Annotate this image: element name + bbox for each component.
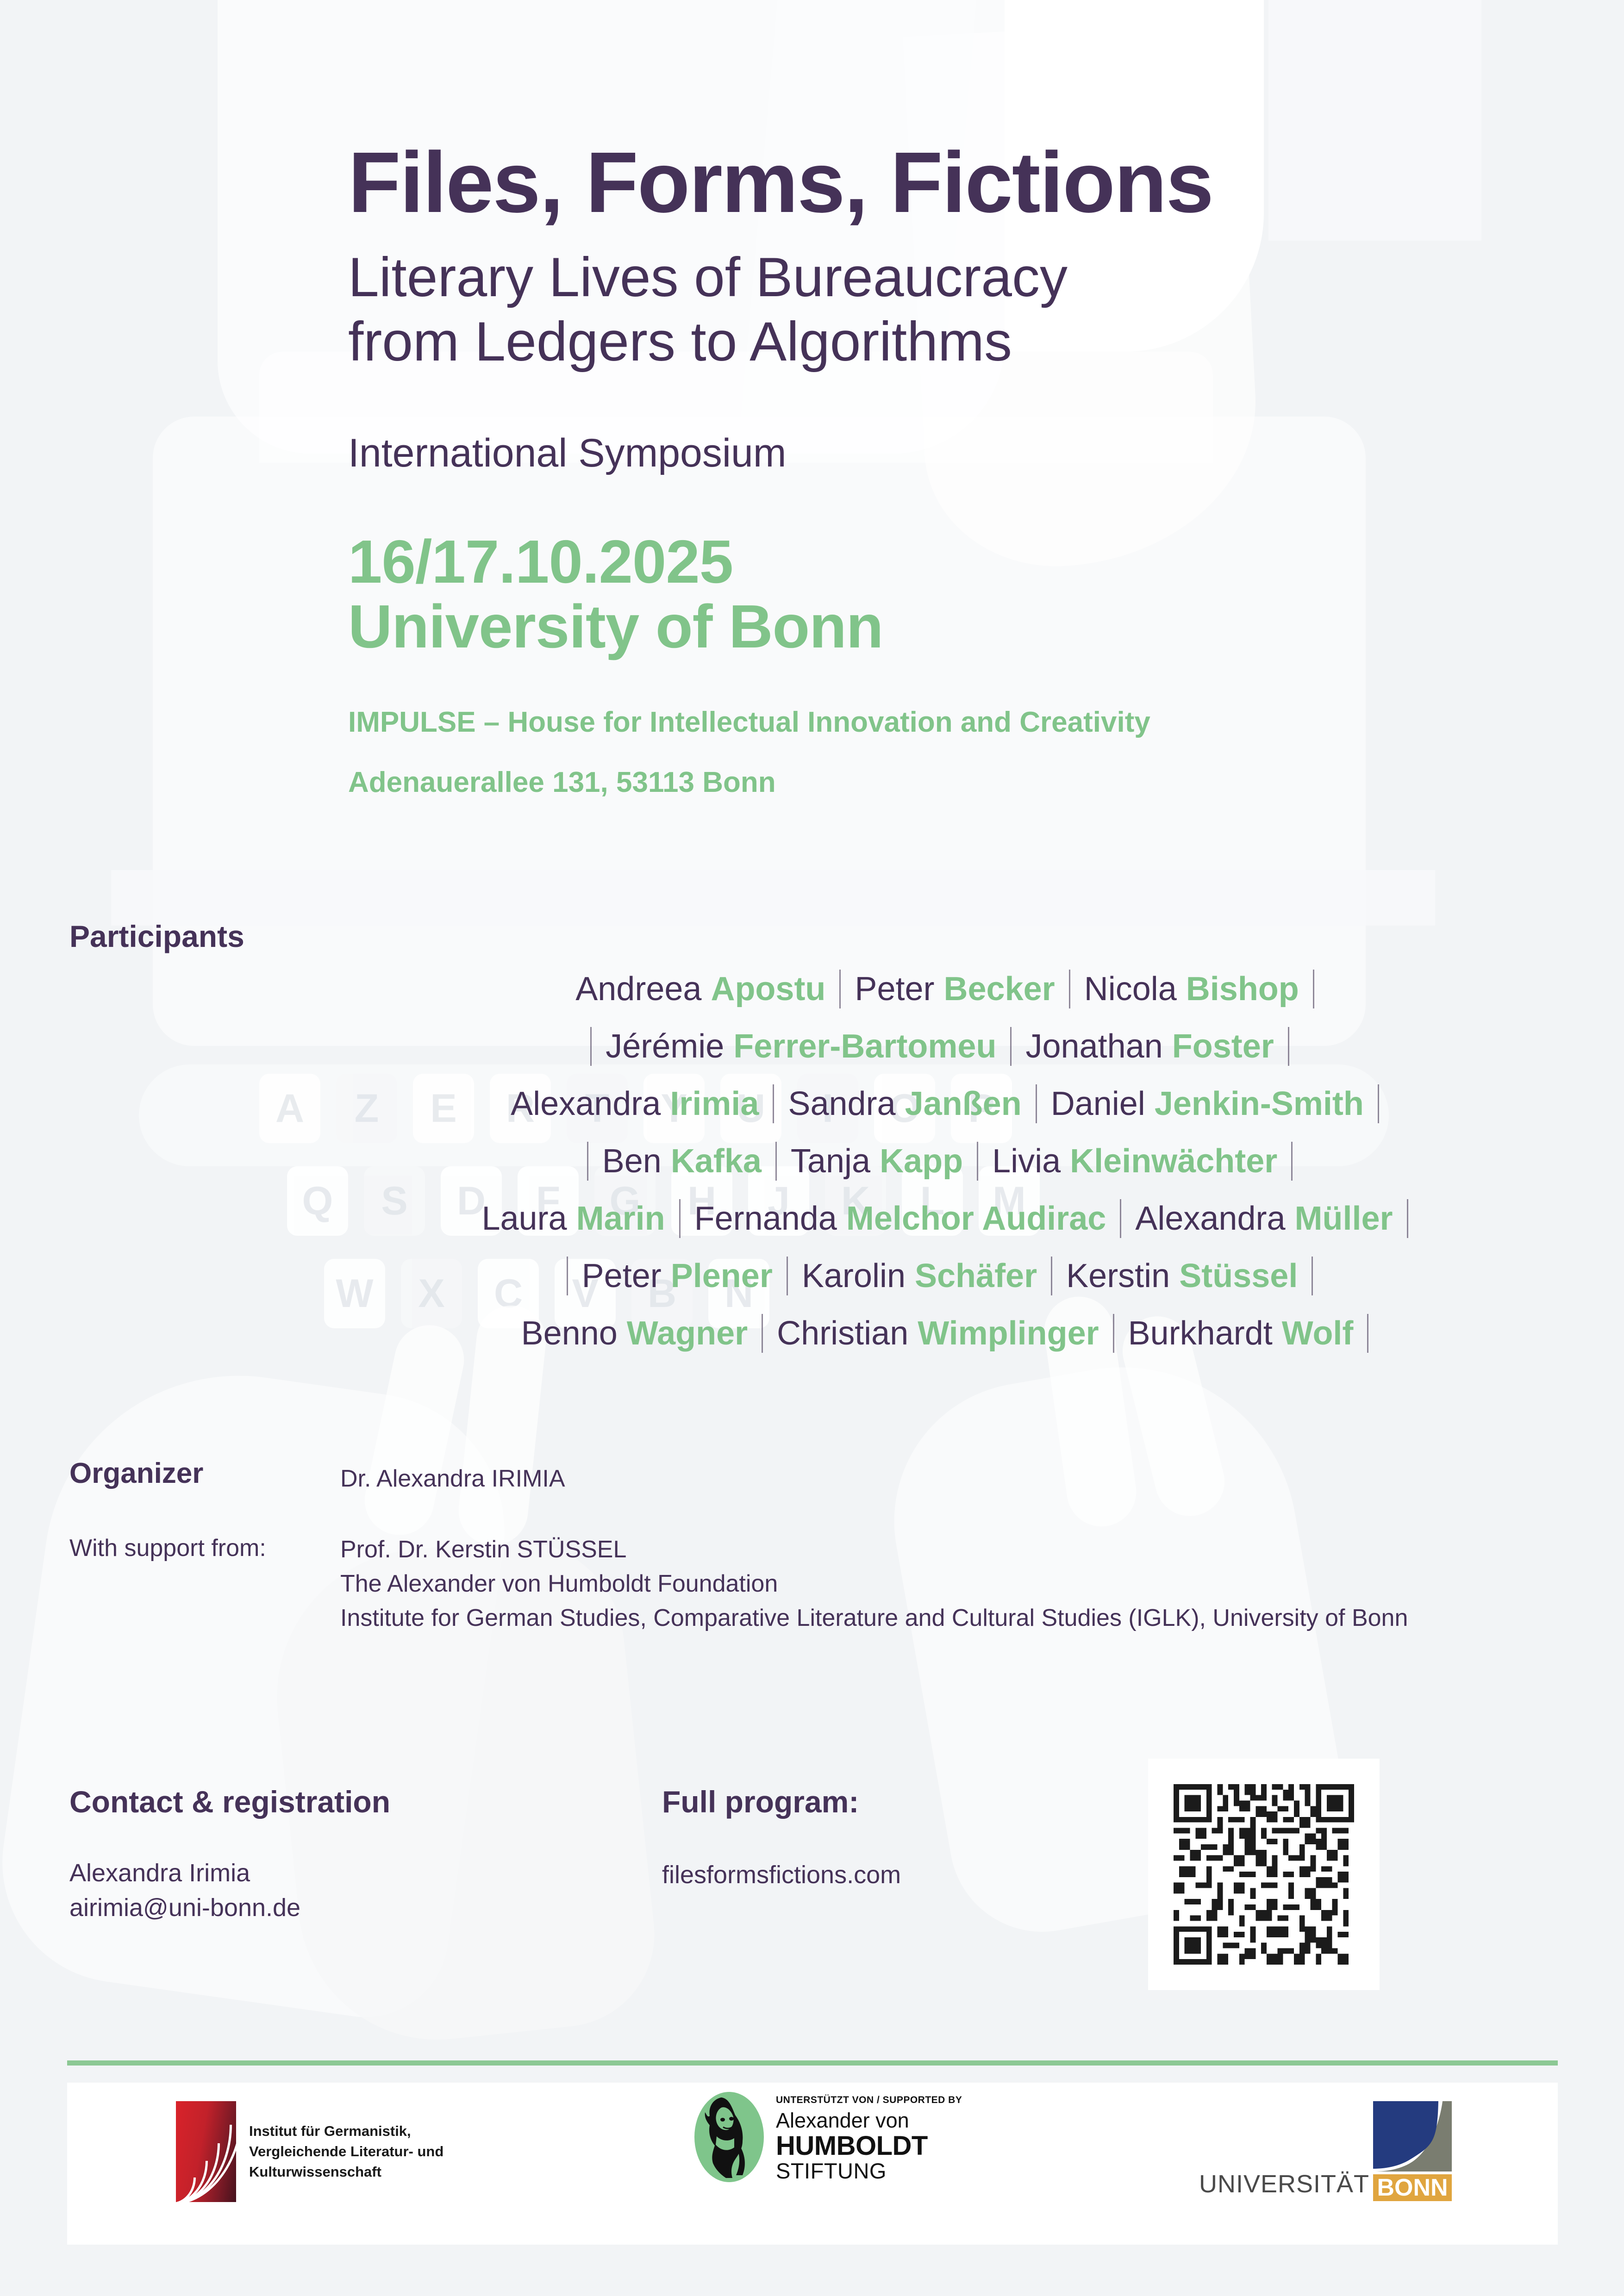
event-kind: International Symposium <box>348 430 786 476</box>
participant-name: Nicola Bishop <box>1072 960 1311 1018</box>
iglk-line-1: Institut für Germanistik, <box>249 2121 443 2141</box>
participant-first-name: Alexandra <box>511 1085 670 1122</box>
contact-details: Alexandra Irimia airimia@uni-bonn.de <box>69 1856 300 1925</box>
participant-name: Laura Marin <box>469 1190 677 1247</box>
participant-first-name: Jonathan <box>1025 1028 1172 1065</box>
participant-name: Alexandra Müller <box>1123 1190 1405 1247</box>
participant-last-name: Ferrer-Bartomeu <box>733 1028 996 1065</box>
participant-first-name: Peter <box>855 971 943 1008</box>
humboldt-line-1: Alexander von <box>776 2109 962 2132</box>
participant-last-name: Wimplinger <box>918 1315 1099 1352</box>
participant-last-name: Kafka <box>671 1143 762 1180</box>
participant-separator <box>679 1199 681 1238</box>
participant-last-name: Foster <box>1172 1028 1274 1065</box>
participant-separator <box>1407 1199 1408 1238</box>
contact-email[interactable]: airimia@uni-bonn.de <box>69 1891 300 1925</box>
participant-last-name: Melchor Audirac <box>846 1200 1106 1237</box>
participant-separator <box>1313 970 1314 1008</box>
participant-first-name: Karolin <box>802 1257 915 1294</box>
participant-name: Peter Plener <box>570 1247 785 1305</box>
event-venue: IMPULSE – House for Intellectual Innovat… <box>348 706 1150 739</box>
participant-last-name: Janßen <box>905 1085 1022 1122</box>
participant-name: Ben Kafka <box>590 1132 774 1190</box>
participant-first-name: Kerstin <box>1066 1257 1179 1294</box>
participant-first-name: Laura <box>481 1200 576 1237</box>
humboldt-line-2: HUMBOLDT <box>776 2132 962 2159</box>
participant-separator <box>977 1142 978 1181</box>
participants-list: Andreea ApostuPeter BeckerNicola BishopJ… <box>315 960 1565 1362</box>
program-heading: Full program: <box>662 1784 859 1819</box>
participant-separator <box>762 1314 763 1353</box>
participant-name: Andreea Apostu <box>563 960 837 1018</box>
bonn-curve-icon <box>1373 2101 1452 2172</box>
participants-label: Participants <box>69 919 244 954</box>
supporters-list: Prof. Dr. Kerstin STÜSSEL The Alexander … <box>340 1533 1408 1635</box>
contact-person: Alexandra Irimia <box>69 1856 300 1891</box>
event-date: 16/17.10.2025 <box>348 528 733 596</box>
poster: AZERTYUIOP QSDFGHJKLM WXCVBN Files, Form… <box>0 0 1624 2296</box>
event-place: University of Bonn <box>348 592 883 661</box>
humboldt-logo-text: UNTERSTÜTZT VON / SUPPORTED BY Alexander… <box>776 2092 962 2183</box>
participant-name: Jérémie Ferrer-Bartomeu <box>593 1018 1008 1075</box>
participants-row: Peter PlenerKarolin SchäferKerstin Stüss… <box>315 1247 1565 1305</box>
participant-name: Alexandra Irimia <box>499 1075 771 1132</box>
participant-last-name: Stüssel <box>1179 1257 1298 1294</box>
participant-separator <box>1120 1199 1121 1238</box>
page-subtitle: Literary Lives of Bureaucracy from Ledge… <box>348 245 1068 374</box>
subtitle-line-2: from Ledgers to Algorithms <box>348 310 1068 374</box>
supporter-item: Prof. Dr. Kerstin STÜSSEL <box>340 1533 1408 1567</box>
participant-last-name: Wagner <box>627 1315 748 1352</box>
footer-divider <box>67 2060 1558 2066</box>
participant-name: Sandra Janßen <box>776 1075 1033 1132</box>
participant-separator <box>590 1027 592 1066</box>
bonn-universitaet-text: UNIVERSITÄT <box>1199 2170 1369 2201</box>
iglk-logo: Institut für Germanistik, Vergleichende … <box>176 2101 443 2202</box>
participant-name: Peter Becker <box>843 960 1067 1018</box>
participant-first-name: Christian <box>777 1315 918 1352</box>
participant-separator <box>787 1257 788 1295</box>
participant-name: Benno Wagner <box>509 1305 760 1362</box>
iglk-logo-text: Institut für Germanistik, Vergleichende … <box>249 2121 443 2182</box>
participant-last-name: Jenkin-Smith <box>1155 1085 1364 1122</box>
bonn-mark: BONN <box>1373 2101 1452 2201</box>
participant-first-name: Nicola <box>1084 971 1186 1008</box>
participant-name: Daniel Jenkin-Smith <box>1039 1075 1376 1132</box>
participant-last-name: Bishop <box>1186 971 1299 1008</box>
participants-row: Laura MarinFernanda Melchor AudiracAlexa… <box>315 1190 1565 1247</box>
humboldt-logo: UNTERSTÜTZT VON / SUPPORTED BY Alexander… <box>694 2092 962 2183</box>
participant-separator <box>1288 1027 1289 1066</box>
bonn-orange-bar: BONN <box>1373 2174 1452 2201</box>
participant-name: Karolin Schäfer <box>790 1247 1049 1305</box>
subtitle-line-1: Literary Lives of Bureaucracy <box>348 245 1068 310</box>
participant-first-name: Sandra <box>788 1085 905 1122</box>
participants-row: Andreea ApostuPeter BeckerNicola Bishop <box>315 960 1565 1018</box>
qr-code-image <box>1174 1784 1354 1965</box>
participant-first-name: Peter <box>582 1257 671 1294</box>
participant-last-name: Apostu <box>711 971 825 1008</box>
participant-separator <box>1113 1314 1114 1353</box>
participant-name: Burkhardt Wolf <box>1116 1305 1366 1362</box>
participant-last-name: Kapp <box>880 1143 963 1180</box>
participant-first-name: Jérémie <box>606 1028 733 1065</box>
iglk-line-3: Kulturwissenschaft <box>249 2162 443 2182</box>
participant-name: Kerstin Stüssel <box>1054 1247 1310 1305</box>
participant-first-name: Benno <box>521 1315 627 1352</box>
participant-separator <box>1051 1257 1052 1295</box>
supporter-item: Institute for German Studies, Comparativ… <box>340 1601 1408 1636</box>
participant-separator <box>1069 970 1070 1008</box>
participant-separator <box>1378 1084 1379 1123</box>
participant-name: Fernanda Melchor Audirac <box>682 1190 1118 1247</box>
participant-name: Jonathan Foster <box>1013 1018 1286 1075</box>
support-label: With support from: <box>69 1534 266 1562</box>
participant-first-name: Livia <box>992 1143 1070 1180</box>
ghost-keyboard-key: A <box>259 1074 320 1143</box>
bonn-square-icon <box>1373 2101 1452 2172</box>
participant-separator <box>1291 1142 1293 1181</box>
supporter-item: The Alexander von Humboldt Foundation <box>340 1567 1408 1601</box>
participant-first-name: Burkhardt <box>1128 1315 1282 1352</box>
participant-last-name: Müller <box>1295 1200 1393 1237</box>
event-address: Adenauerallee 131, 53113 Bonn <box>348 766 776 799</box>
participant-separator <box>1367 1314 1368 1353</box>
contact-heading: Contact & registration <box>69 1784 390 1819</box>
participant-separator <box>1010 1027 1012 1066</box>
participant-first-name: Andreea <box>575 971 711 1008</box>
participant-separator <box>775 1142 777 1181</box>
university-bonn-logo: UNIVERSITÄT BONN <box>1199 2101 1452 2201</box>
participant-first-name: Tanja <box>791 1143 880 1180</box>
participants-row: Alexandra IrimiaSandra JanßenDaniel Jenk… <box>315 1075 1565 1132</box>
participant-separator <box>1036 1084 1037 1123</box>
participant-last-name: Becker <box>944 971 1055 1008</box>
participants-row: Jérémie Ferrer-BartomeuJonathan Foster <box>315 1018 1565 1075</box>
participant-last-name: Plener <box>671 1257 773 1294</box>
participant-separator <box>839 970 841 1008</box>
organizer-label: Organizer <box>69 1457 203 1490</box>
participant-separator <box>1312 1257 1313 1295</box>
participant-first-name: Alexandra <box>1135 1200 1294 1237</box>
participant-last-name: Marin <box>576 1200 665 1237</box>
participant-name: Tanja Kapp <box>779 1132 975 1190</box>
participant-last-name: Schäfer <box>915 1257 1037 1294</box>
organizer-name: Dr. Alexandra IRIMIA <box>340 1465 565 1493</box>
participant-separator <box>567 1257 568 1295</box>
humboldt-supported-by: UNTERSTÜTZT VON / SUPPORTED BY <box>776 2095 962 2106</box>
participant-last-name: Kleinwächter <box>1070 1143 1277 1180</box>
participant-first-name: Ben <box>602 1143 671 1180</box>
participants-row: Ben KafkaTanja KappLivia Kleinwächter <box>315 1132 1565 1190</box>
qr-code[interactable] <box>1148 1759 1380 1990</box>
participant-last-name: Irimia <box>670 1085 759 1122</box>
iglk-line-2: Vergleichende Literatur- und <box>249 2141 443 2162</box>
participant-separator <box>587 1142 588 1181</box>
humboldt-face-icon <box>694 2092 764 2182</box>
humboldt-portrait-icon <box>694 2092 764 2182</box>
page-title: Files, Forms, Fictions <box>348 139 1213 227</box>
program-url[interactable]: filesformsfictions.com <box>662 1860 901 1889</box>
participant-name: Christian Wimplinger <box>765 1305 1111 1362</box>
participants-row: Benno WagnerChristian WimplingerBurkhard… <box>315 1305 1565 1362</box>
participant-last-name: Wolf <box>1282 1315 1354 1352</box>
participant-name: Livia Kleinwächter <box>980 1132 1289 1190</box>
participant-first-name: Fernanda <box>694 1200 846 1237</box>
humboldt-line-3: STIFTUNG <box>776 2159 962 2183</box>
participant-first-name: Daniel <box>1051 1085 1155 1122</box>
iglk-book-icon <box>176 2101 236 2202</box>
participant-separator <box>773 1084 774 1123</box>
